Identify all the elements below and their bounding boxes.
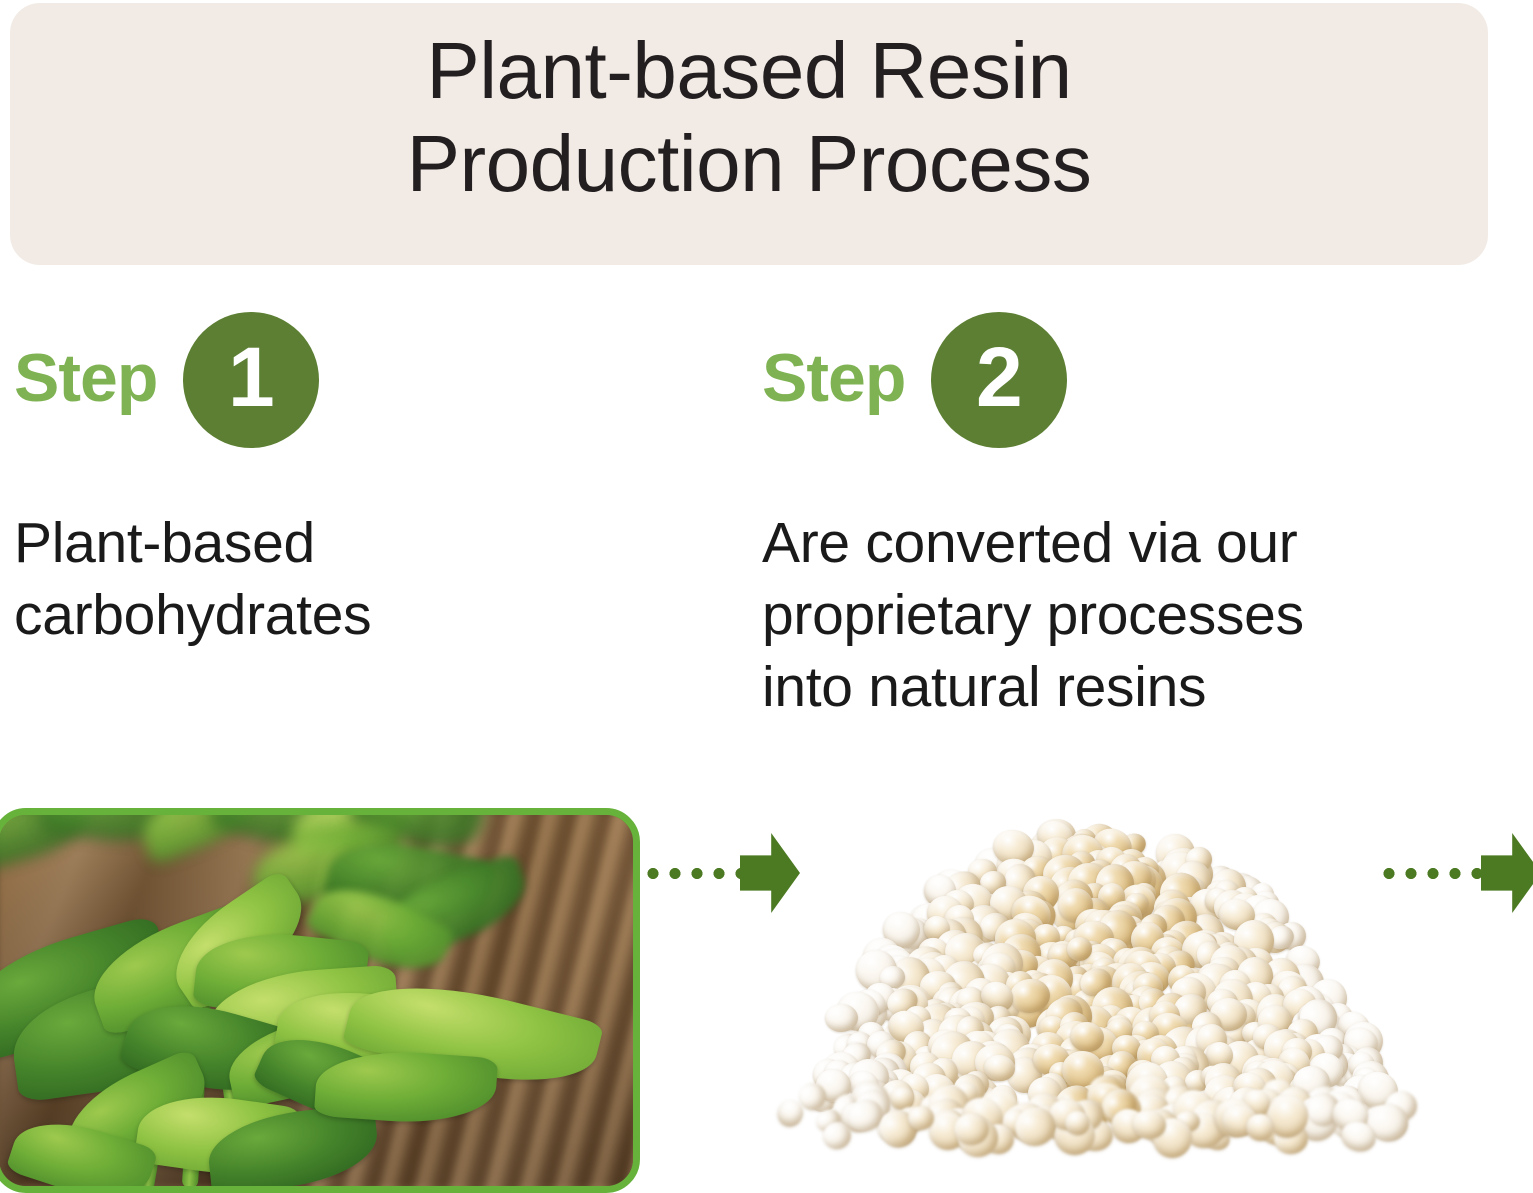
step-1-description: Plant-based carbohydrates [14,508,574,652]
dotted-line-icon [642,868,742,879]
step-column-2: Step 2 Are converted via our proprietary… [762,300,1462,723]
step-2-label: Step [762,344,905,416]
step-1-badge: Step 1 [14,300,714,460]
page-title: Plant-based Resin Production Process [10,25,1488,211]
arrow-right-icon [1481,833,1533,913]
step-column-1: Step 1 Plant-based carbohydrates [14,300,714,652]
step-2-badge: Step 2 [762,300,1462,460]
resin-pellets-photo [800,832,1400,1180]
arrow-step1-to-step2 [642,828,802,918]
step-1-number-circle: 1 [183,312,319,448]
arrow-right-icon [740,833,800,913]
step-2-number-circle: 2 [931,312,1067,448]
step-2-description: Are converted via our proprietary proces… [762,508,1452,723]
plant-scene [0,815,633,1186]
dotted-line-icon [1378,868,1483,879]
potato-plant-field-photo [0,808,640,1193]
resin-pellet [825,1003,858,1032]
arrow-step2-to-next [1378,828,1533,918]
title-banner: Plant-based Resin Production Process [10,3,1488,265]
steps-row: Step 1 Plant-based carbohydrates Step 2 … [0,300,1533,770]
step-1-label: Step [14,344,157,416]
